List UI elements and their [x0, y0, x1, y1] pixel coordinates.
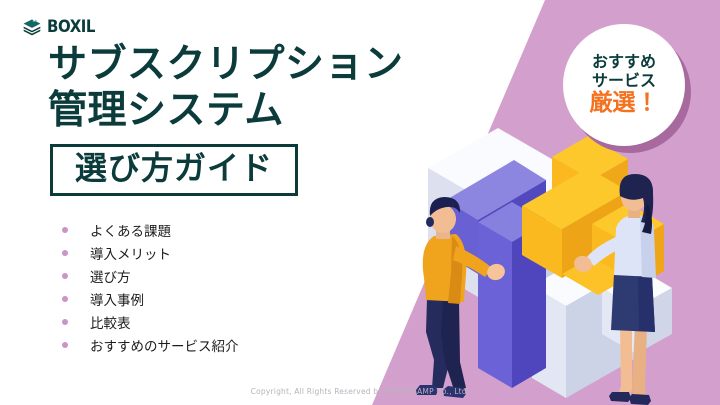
list-item-label: 比較表 [90, 312, 131, 332]
list-item[interactable]: 導入メリット [62, 241, 239, 264]
badge-line-1: おすすめ [592, 53, 656, 71]
bullet-dot-icon [62, 250, 68, 256]
bullet-dot-icon [62, 342, 68, 348]
isometric-blocks-illustration [380, 96, 720, 405]
recommended-badge: おすすめ サービス 厳選！ [561, 22, 699, 142]
badge-circle: おすすめ サービス 厳選！ [563, 24, 685, 146]
list-item-label: おすすめのサービス紹介 [90, 335, 239, 355]
list-item[interactable]: 比較表 [62, 310, 239, 333]
list-item[interactable]: 導入事例 [62, 287, 239, 310]
list-item[interactable]: おすすめのサービス紹介 [62, 333, 239, 356]
page-title: サブスクリプション 管理システム [48, 42, 404, 133]
stacked-layers-icon [22, 17, 42, 37]
slide-canvas: BOXIL サブスクリプション 管理システム 選び方ガイド よくある課題 導入メ… [0, 0, 720, 405]
bullet-dot-icon [62, 227, 68, 233]
list-item-label: よくある課題 [90, 220, 171, 240]
subtitle-text: 選び方ガイド [75, 150, 273, 187]
list-item[interactable]: よくある課題 [62, 218, 239, 241]
page-title-line2: 管理システム [48, 88, 404, 134]
list-item[interactable]: 選び方 [62, 264, 239, 287]
bullet-dot-icon [62, 319, 68, 325]
badge-line-3: 厳選！ [590, 91, 659, 116]
toc-list: よくある課題 導入メリット 選び方 導入事例 比較表 おすすめのサービス紹介 [62, 218, 239, 356]
list-item-label: 導入メリット [90, 243, 171, 263]
list-item-label: 導入事例 [90, 289, 144, 309]
subtitle-box: 選び方ガイド [50, 144, 298, 196]
boxil-logo[interactable]: BOXIL [22, 17, 102, 37]
badge-line-2: サービス [592, 72, 656, 90]
bullet-dot-icon [62, 273, 68, 279]
bullet-dot-icon [62, 296, 68, 302]
logo-wordmark: BOXIL [47, 19, 95, 36]
list-item-label: 選び方 [90, 266, 131, 286]
page-title-line1: サブスクリプション [48, 42, 404, 88]
